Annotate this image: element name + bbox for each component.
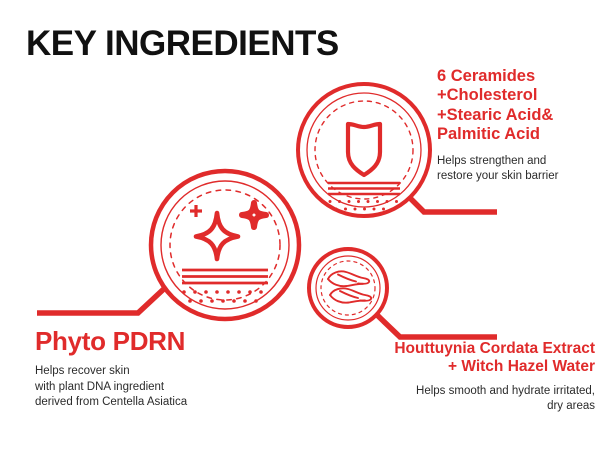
connector-houttuynia bbox=[375, 313, 497, 337]
description-line: restore your skin barrier bbox=[437, 169, 595, 184]
description-line: Helps strengthen and bbox=[437, 154, 595, 169]
icon-circle-houttuynia bbox=[309, 249, 387, 327]
ingredient-description-houttuynia: Helps smooth and hydrate irritated, dry … bbox=[318, 384, 595, 414]
heading-line: Palmitic Acid bbox=[437, 125, 595, 144]
description-line: derived from Centella Asiatica bbox=[35, 395, 265, 410]
description-line: dry areas bbox=[318, 399, 595, 414]
connector-phyto-pdrn bbox=[37, 286, 167, 313]
description-line: Helps smooth and hydrate irritated, bbox=[318, 384, 595, 399]
ingredient-block-houttuynia: Houttuynia Cordata Extract + Witch Hazel… bbox=[318, 340, 595, 415]
heading-line: 6 Ceramides bbox=[437, 67, 595, 86]
heading-line: +Cholesterol bbox=[437, 86, 595, 105]
heading-line: Phyto PDRN bbox=[35, 326, 265, 356]
ingredient-heading-phyto-pdrn: Phyto PDRN bbox=[35, 326, 265, 356]
icon-circle-phyto-pdrn bbox=[151, 171, 299, 319]
heading-line: + Witch Hazel Water bbox=[318, 358, 595, 376]
ingredient-block-phyto-pdrn: Phyto PDRN Helps recover skin with plant… bbox=[35, 326, 265, 410]
heading-line: +Stearic Acid& bbox=[437, 106, 595, 125]
icon-circle-ceramides bbox=[298, 84, 430, 216]
key-ingredients-infographic: KEY INGREDIENTS 6 Ceramides +Cholesterol… bbox=[0, 0, 600, 450]
page-title: KEY INGREDIENTS bbox=[26, 26, 339, 61]
ingredient-heading-houttuynia: Houttuynia Cordata Extract + Witch Hazel… bbox=[318, 340, 595, 376]
ingredient-block-ceramides: 6 Ceramides +Cholesterol +Stearic Acid& … bbox=[437, 67, 595, 185]
description-line: with plant DNA ingredient bbox=[35, 380, 265, 395]
ingredient-heading-ceramides: 6 Ceramides +Cholesterol +Stearic Acid& … bbox=[437, 67, 595, 144]
heading-line: Houttuynia Cordata Extract bbox=[318, 340, 595, 358]
ingredient-description-phyto-pdrn: Helps recover skin with plant DNA ingred… bbox=[35, 364, 265, 410]
description-line: Helps recover skin bbox=[35, 364, 265, 379]
ingredient-description-ceramides: Helps strengthen and restore your skin b… bbox=[437, 154, 595, 184]
